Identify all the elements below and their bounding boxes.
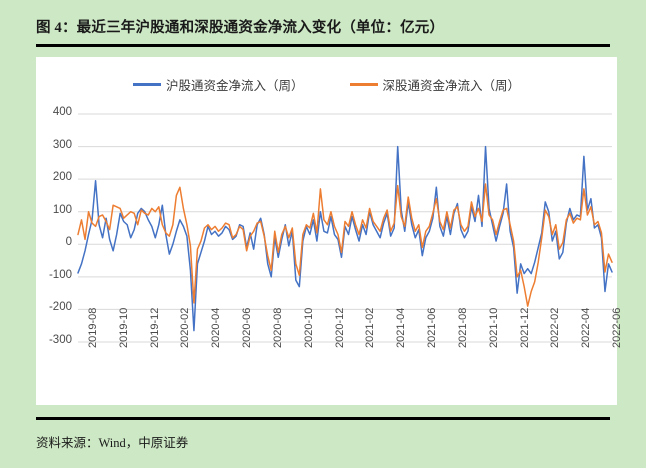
x-tick-label: 2020-06 [241, 308, 253, 348]
y-tick-label: 300 [36, 139, 72, 151]
legend-swatch-shenzhen [350, 83, 378, 86]
x-tick-label: 2022-04 [580, 308, 592, 348]
x-tick-label: 2019-12 [149, 308, 161, 348]
x-tick-label: 2019-10 [118, 308, 130, 348]
y-tick-label: 200 [36, 171, 72, 183]
legend-label-shenzhen: 深股通资金净流入（周） [383, 75, 521, 94]
x-tick-label: 2021-02 [364, 308, 376, 348]
chart-legend: 沪股通资金净流入（周） 深股通资金净流入（周） [36, 75, 617, 94]
legend-swatch-shanghai [133, 83, 161, 86]
source-note: 资料来源：Wind，中原证券 [36, 432, 188, 451]
legend-item-shanghai[interactable]: 沪股通资金净流入（周） [133, 75, 304, 94]
title-divider-top [36, 44, 610, 47]
y-tick-label: 100 [36, 204, 72, 216]
series-line-1 [78, 147, 612, 331]
series-line-2 [78, 184, 612, 306]
plot-area [36, 57, 617, 405]
legend-label-shanghai: 沪股通资金净流入（周） [166, 75, 304, 94]
y-tick-label: 400 [36, 106, 72, 118]
source-divider-bottom [36, 417, 610, 420]
x-tick-label: 2020-04 [210, 308, 222, 348]
x-tick-label: 2021-06 [426, 308, 438, 348]
x-tick-label: 2020-02 [179, 308, 191, 348]
y-tick-label: -300 [36, 334, 72, 346]
x-tick-label: 2021-12 [519, 308, 531, 348]
x-tick-label: 2019-08 [87, 308, 99, 348]
x-tick-label: 2020-12 [334, 308, 346, 348]
y-tick-label: 0 [36, 236, 72, 248]
figure-title: 图 4：最近三年沪股通和深股通资金净流入变化（单位：亿元） [36, 16, 444, 37]
chart-panel: 沪股通资金净流入（周） 深股通资金净流入（周） 4003002001000-10… [36, 57, 617, 405]
legend-item-shenzhen[interactable]: 深股通资金净流入（周） [350, 75, 521, 94]
x-tick-label: 2021-10 [488, 308, 500, 348]
figure-container: 图 4：最近三年沪股通和深股通资金净流入变化（单位：亿元） 沪股通资金净流入（周… [0, 0, 646, 468]
x-tick-label: 2022-06 [611, 308, 623, 348]
x-tick-label: 2021-08 [457, 308, 469, 348]
x-tick-label: 2021-04 [395, 308, 407, 348]
x-tick-label: 2020-08 [272, 308, 284, 348]
chart-svg [36, 57, 617, 405]
y-tick-label: -200 [36, 301, 72, 313]
y-tick-label: -100 [36, 269, 72, 281]
x-tick-label: 2020-10 [303, 308, 315, 348]
series-group [78, 147, 612, 331]
x-tick-label: 2022-02 [549, 308, 561, 348]
